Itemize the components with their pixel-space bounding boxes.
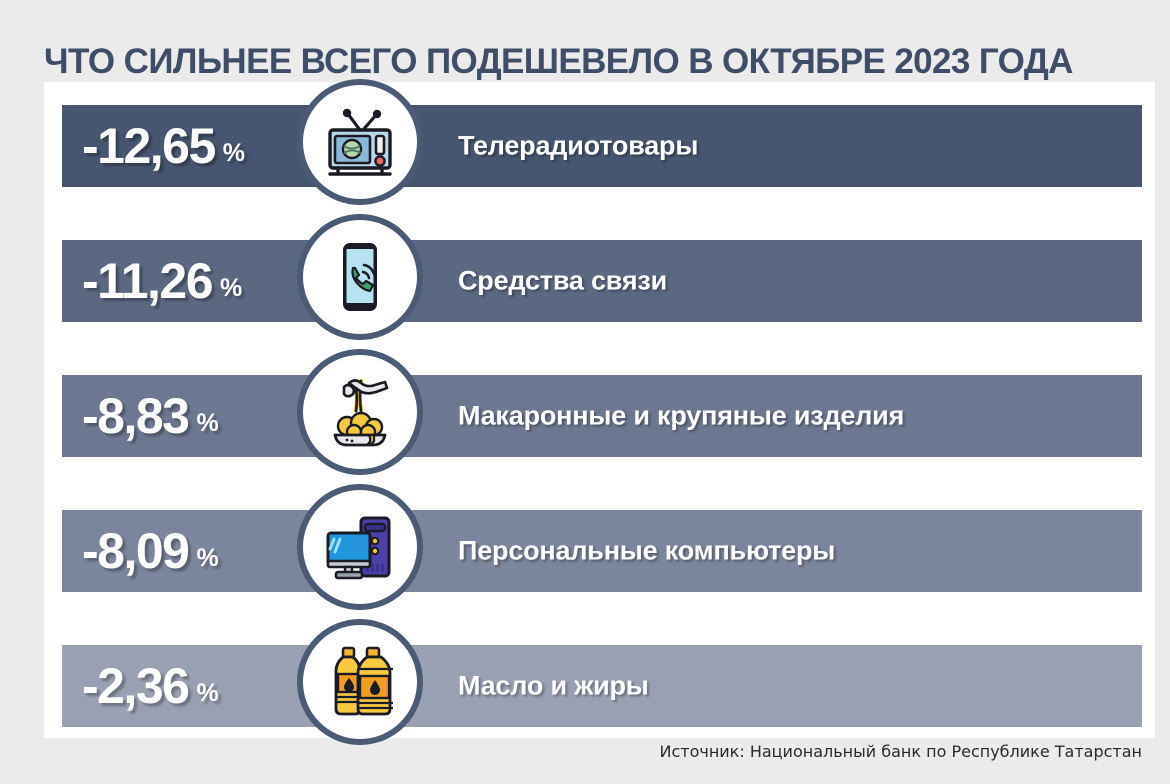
value-number: -8,83: [82, 388, 188, 444]
value-text: -11,26%: [82, 256, 242, 306]
icon-medallion: [297, 484, 423, 610]
percent-sign: %: [196, 544, 218, 572]
value-bar: -8,83% Макаронные и крупяные изделия: [62, 375, 1142, 457]
value-number: -8,09: [82, 523, 188, 579]
oil-bottles-icon: [319, 641, 401, 723]
smartphone-call-icon: [320, 237, 400, 317]
value-bar: -12,65% Телерадиотовары: [62, 105, 1142, 187]
list-item: -8,09% Персональные компьютеры: [0, 487, 1170, 622]
value-number: -2,36: [82, 658, 188, 714]
retro-tv-icon: [320, 102, 400, 182]
value-text: -12,65%: [82, 121, 245, 171]
value-number: -12,65: [82, 118, 215, 174]
list-item: -8,83% Макаронные и крупяные изделия: [0, 352, 1170, 487]
source-note: Источник: Национальный банк по Республик…: [659, 742, 1142, 761]
list-item: -2,36% Масло и жиры: [0, 622, 1170, 757]
category-label: Макаронные и крупяные изделия: [458, 403, 904, 430]
icon-medallion: [297, 79, 423, 205]
icon-medallion: [297, 214, 423, 340]
category-label: Средства связи: [458, 268, 667, 295]
value-number: -11,26: [82, 253, 212, 309]
pasta-plate-icon: [319, 371, 401, 453]
list-item: -11,26% Средства связи: [0, 217, 1170, 352]
value-text: -2,36%: [82, 661, 219, 711]
value-bar: -11,26% Средства связи: [62, 240, 1142, 322]
icon-medallion: [297, 619, 423, 745]
list-item: -12,65% Телерадиотовары: [0, 82, 1170, 217]
category-label: Масло и жиры: [458, 673, 649, 700]
category-label: Телерадиотовары: [458, 133, 698, 160]
percent-sign: %: [220, 274, 242, 302]
percent-sign: %: [196, 679, 218, 707]
value-text: -8,83%: [82, 391, 219, 441]
category-label: Персональные компьютеры: [458, 538, 835, 565]
value-bar: -2,36% Масло и жиры: [62, 645, 1142, 727]
percent-sign: %: [223, 139, 245, 167]
ranking-list: -12,65% Телерадиотовары: [0, 0, 1170, 784]
icon-medallion: [297, 349, 423, 475]
value-bar: -8,09% Персональные компьютеры: [62, 510, 1142, 592]
desktop-computer-icon: [319, 506, 401, 588]
value-text: -8,09%: [82, 526, 219, 576]
percent-sign: %: [196, 409, 218, 437]
